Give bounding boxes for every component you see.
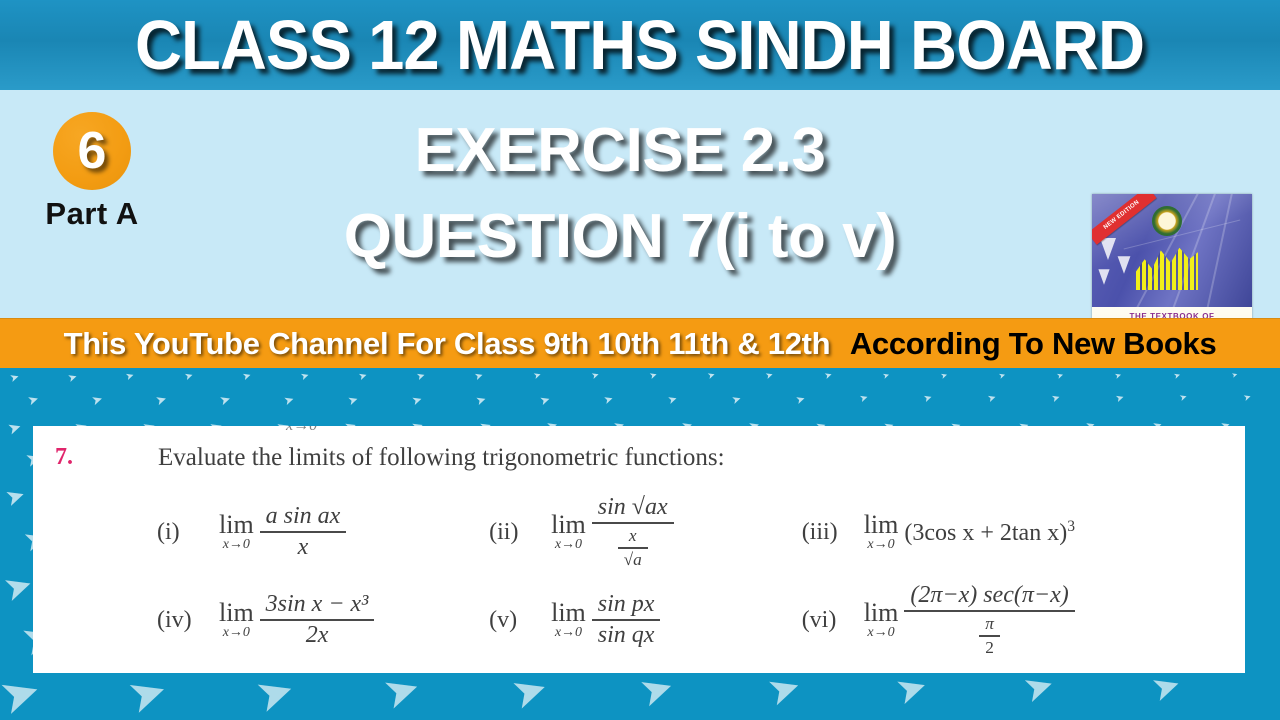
arrow-cursor-icon: ➤: [533, 371, 543, 382]
fraction-numerator: sin √ax: [592, 493, 674, 522]
arrow-cursor-icon: ➤: [250, 665, 300, 719]
arrow-cursor-icon: ➤: [154, 393, 168, 409]
inner-fraction-numerator: π: [979, 613, 1000, 635]
item-tag: (iii): [796, 519, 864, 546]
arrow-cursor-icon: ➤: [859, 393, 870, 405]
arrow-cursor-icon: ➤: [923, 393, 934, 405]
arrow-cursor-icon: ➤: [1056, 371, 1065, 381]
arrow-cursor-icon: ➤: [6, 418, 24, 437]
limit-operator: lim x→0: [219, 513, 254, 552]
limit-operator: lim x→0: [551, 601, 586, 640]
arrow-cursor-icon: ➤: [1173, 371, 1182, 381]
fraction-denominator: x: [292, 533, 315, 562]
limit-sub-text: x→0: [223, 538, 250, 552]
cover-cone-1: [1100, 238, 1116, 260]
question-row: (iv) lim x→0 3sin x − x³ 2x: [33, 576, 1245, 664]
promo-text-secondary: According To New Books: [850, 326, 1217, 361]
item-tag: (iv): [151, 607, 219, 634]
fraction: a sin ax x: [260, 502, 347, 562]
limit-sub-text: x→0: [867, 538, 894, 552]
fraction-numerator: a sin ax: [260, 502, 347, 531]
hero-section: 6 Part A EXERCISE 2.3 QUESTION 7(i to v)…: [0, 90, 1280, 318]
fraction-numerator: 3sin x − x³: [260, 590, 375, 619]
arrow-cursor-icon: ➤: [998, 371, 1007, 381]
question-row: (i) lim x→0 a sin ax x (ii: [33, 488, 1245, 576]
power-exponent: 3: [1067, 518, 1075, 535]
question-number: 7.: [55, 444, 73, 471]
arrow-cursor-icon: ➤: [538, 393, 551, 408]
power-expression: (3cos x + 2tan x)3: [904, 518, 1075, 547]
fraction-denominator: x √a: [612, 524, 654, 572]
question-item-v: (v) lim x→0 sin px sin qx: [483, 590, 796, 650]
arrow-cursor-icon: ➤: [765, 371, 775, 382]
hero-headings: EXERCISE 2.3 QUESTION 7(i to v): [180, 108, 1060, 280]
arrow-cursor-icon: ➤: [90, 393, 104, 409]
limit-op-text: lim: [219, 601, 254, 625]
arrow-cursor-icon: ➤: [416, 371, 427, 383]
limit-sub-text: x→0: [555, 538, 582, 552]
arrow-cursor-icon: ➤: [0, 665, 47, 720]
arrow-cursor-icon: ➤: [125, 371, 136, 383]
item-expression: lim x→0 a sin ax x: [219, 502, 346, 562]
item-expression: lim x→0 (3cos x + 2tan x)3: [864, 513, 1075, 552]
arrow-cursor-icon: ➤: [1114, 371, 1123, 381]
question-stem: Evaluate the limits of following trigono…: [158, 444, 725, 472]
arrow-cursor-icon: ➤: [1179, 393, 1189, 404]
fraction-denominator: sin qx: [592, 621, 661, 650]
item-expression: lim x→0 3sin x − x³ 2x: [219, 590, 374, 650]
fraction-numerator: (2π−x) sec(π−x): [904, 581, 1074, 610]
limit-op-text: lim: [551, 601, 586, 625]
cover-new-edition-ribbon: NEW EDITION: [1092, 194, 1157, 245]
arrow-cursor-icon: ➤: [242, 371, 253, 383]
question-item-i: (i) lim x→0 a sin ax x: [33, 502, 483, 562]
arrow-cursor-icon: ➤: [282, 393, 295, 408]
promo-text-primary: This YouTube Channel For Class 9th 10th …: [64, 326, 831, 361]
arrow-cursor-icon: ➤: [603, 393, 615, 406]
page-title: CLASS 12 MATHS SINDH BOARD: [0, 9, 1280, 81]
fraction-numerator: sin px: [592, 590, 661, 619]
arrow-cursor-icon: ➤: [882, 371, 891, 381]
arrow-cursor-icon: ➤: [707, 371, 717, 382]
item-tag: (vi): [796, 607, 864, 634]
limit-operator: lim x→0: [219, 601, 254, 640]
arrow-cursor-icon: ➤: [987, 393, 998, 405]
book-cover-artwork: NEW EDITION: [1092, 194, 1252, 307]
arrow-cursor-icon: ➤: [731, 393, 743, 406]
inner-fraction: π 2: [979, 613, 1000, 659]
arrow-cursor-icon: ➤: [410, 393, 423, 408]
arrow-cursor-icon: ➤: [635, 666, 679, 714]
arrow-cursor-icon: ➤: [358, 371, 369, 383]
item-tag: (v): [483, 607, 551, 634]
arrow-cursor-icon: ➤: [300, 371, 311, 383]
textbook-question-card: x→0 7. Evaluate the limits of following …: [33, 426, 1245, 673]
limit-operator: lim x→0: [551, 513, 586, 552]
inner-fraction-denominator: √a: [618, 549, 648, 571]
arrow-cursor-icon: ➤: [346, 393, 359, 408]
arrow-cursor-icon: ➤: [67, 371, 79, 384]
arrow-cursor-icon: ➤: [3, 484, 28, 512]
limit-operator: lim x→0: [864, 513, 899, 552]
cover-ribbon-label: NEW EDITION: [1092, 194, 1157, 245]
fraction: sin √ax x √a: [592, 493, 674, 572]
arrow-cursor-icon: ➤: [122, 665, 173, 720]
power-base: (3cos x + 2tan x): [904, 520, 1067, 546]
promo-banner-text: This YouTube Channel For Class 9th 10th …: [64, 326, 1217, 362]
question-item-vi: (vi) lim x→0 (2π−x) sec(π−x) π: [796, 581, 1245, 660]
limit-op-text: lim: [864, 513, 899, 537]
item-expression: lim x→0 (2π−x) sec(π−x) π 2: [864, 581, 1075, 660]
limit-op-text: lim: [219, 513, 254, 537]
arrow-cursor-icon: ➤: [474, 393, 487, 408]
arrow-cursor-icon: ➤: [9, 371, 21, 384]
lesson-badge: 6 Part A: [22, 112, 162, 232]
arrow-cursor-icon: ➤: [795, 393, 807, 406]
lesson-part-label: Part A: [22, 196, 162, 232]
arrow-cursor-icon: ➤: [667, 393, 679, 406]
limit-sub-text: x→0: [223, 626, 250, 640]
arrow-cursor-icon: ➤: [824, 371, 834, 382]
video-thumbnail: CLASS 12 MATHS SINDH BOARD 6 Part A EXER…: [0, 0, 1280, 720]
cover-cone-3: [1098, 269, 1109, 284]
item-tag: (ii): [483, 519, 551, 546]
limit-sub-text: x→0: [867, 626, 894, 640]
promo-banner: This YouTube Channel For Class 9th 10th …: [0, 318, 1280, 370]
exercise-heading: EXERCISE 2.3: [180, 108, 1060, 194]
item-expression: lim x→0 sin px sin qx: [551, 590, 660, 650]
lesson-number-badge: 6: [53, 112, 131, 190]
arrow-cursor-icon: ➤: [649, 371, 659, 382]
arrow-cursor-icon: ➤: [1115, 393, 1126, 405]
inner-fraction: x √a: [618, 525, 648, 571]
fraction: 3sin x − x³ 2x: [260, 590, 375, 650]
item-tag: (i): [151, 519, 219, 546]
inner-fraction-denominator: 2: [979, 637, 1000, 659]
limit-operator: lim x→0: [864, 601, 899, 640]
header-band: CLASS 12 MATHS SINDH BOARD: [0, 0, 1280, 90]
cover-cone-2: [1118, 256, 1131, 274]
item-expression: lim x→0 sin √ax x √a: [551, 493, 674, 572]
question-item-iii: (iii) lim x→0 (3cos x + 2tan x)3: [796, 513, 1245, 552]
clipped-limit-remnant: x→0: [286, 426, 317, 435]
arrow-cursor-icon: ➤: [474, 371, 485, 383]
question-items: (i) lim x→0 a sin ax x (ii: [33, 488, 1245, 664]
fraction: sin px sin qx: [592, 590, 661, 650]
question-heading: QUESTION 7(i to v): [180, 194, 1060, 280]
limit-op-text: lim: [864, 601, 899, 625]
arrow-cursor-icon: ➤: [1231, 371, 1239, 379]
page-title-text: CLASS 12 MATHS SINDH BOARD: [135, 9, 1144, 81]
limit-op-text: lim: [551, 513, 586, 537]
arrow-cursor-icon: ➤: [591, 371, 601, 382]
arrow-cursor-icon: ➤: [940, 371, 949, 381]
arrow-cursor-icon: ➤: [1051, 393, 1062, 405]
arrow-cursor-icon: ➤: [0, 566, 37, 607]
arrow-cursor-icon: ➤: [26, 393, 40, 409]
limit-sub-text: x→0: [555, 626, 582, 640]
question-item-ii: (ii) lim x→0 sin √ax x: [483, 493, 796, 572]
fraction-denominator: π 2: [973, 612, 1006, 660]
arrow-cursor-icon: ➤: [1243, 393, 1253, 404]
fraction-denominator: 2x: [300, 621, 335, 650]
arrow-cursor-icon: ➤: [184, 371, 195, 383]
fraction: (2π−x) sec(π−x) π 2: [904, 581, 1074, 660]
question-item-iv: (iv) lim x→0 3sin x − x³ 2x: [33, 590, 483, 650]
arrow-cursor-icon: ➤: [378, 665, 426, 717]
inner-fraction-numerator: x: [623, 525, 643, 547]
cover-board-seal-icon: [1152, 206, 1182, 236]
arrow-cursor-icon: ➤: [218, 393, 232, 409]
arrow-cursor-icon: ➤: [506, 666, 552, 717]
